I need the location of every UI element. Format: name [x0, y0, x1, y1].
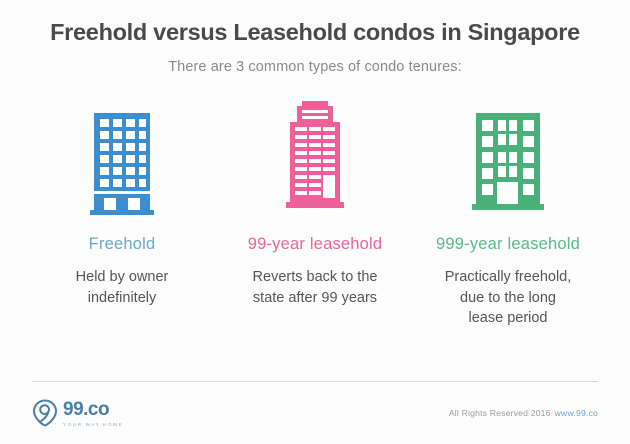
page-subtitle: There are 3 common types of condo tenure… [0, 46, 630, 75]
brand-name: 99.co [63, 400, 123, 419]
brand-tagline: YOUR WAY HOME [63, 422, 123, 427]
copyright-text: All Rights Reserved 2016 [449, 408, 551, 418]
tenure-description-freehold: Held by owner indefinitely [76, 267, 169, 308]
tenure-description-999-year: Practically freehold, due to the long le… [445, 267, 572, 329]
apartment-building-icon [468, 111, 548, 217]
copyright-notice: All Rights Reserved 2016www.99.co [449, 408, 598, 418]
map-pin-nine-icon [32, 399, 58, 427]
tenure-label-99-year: 99-year leasehold [248, 235, 383, 254]
header: Freehold versus Leasehold condos in Sing… [0, 0, 630, 75]
infographic-page: Freehold versus Leasehold condos in Sing… [0, 0, 630, 444]
tenure-description-99-year: Reverts back to the state after 99 years [253, 267, 378, 308]
tenure-column-999-year: 999-year leasehold Practically freehold,… [412, 97, 604, 329]
office-building-icon-wrap [86, 97, 158, 217]
website-url[interactable]: www.99.co [555, 408, 598, 418]
brand-logo-text: 99.co YOUR WAY HOME [63, 400, 123, 427]
tenure-column-99-year: 99-year leasehold Reverts back to the st… [219, 97, 411, 308]
page-title: Freehold versus Leasehold condos in Sing… [0, 18, 630, 46]
tenure-columns: Freehold Held by owner indefinitely [0, 75, 630, 381]
office-building-icon [86, 111, 158, 217]
footer: 99.co YOUR WAY HOME All Rights Reserved … [0, 382, 630, 444]
tower-building-icon [279, 101, 351, 217]
apartment-building-icon-wrap [468, 97, 548, 217]
tenure-label-freehold: Freehold [89, 235, 156, 254]
brand-logo[interactable]: 99.co YOUR WAY HOME [32, 399, 123, 427]
tower-building-icon-wrap [279, 97, 351, 217]
tenure-column-freehold: Freehold Held by owner indefinitely [26, 97, 218, 308]
tenure-label-999-year: 999-year leasehold [436, 235, 580, 254]
